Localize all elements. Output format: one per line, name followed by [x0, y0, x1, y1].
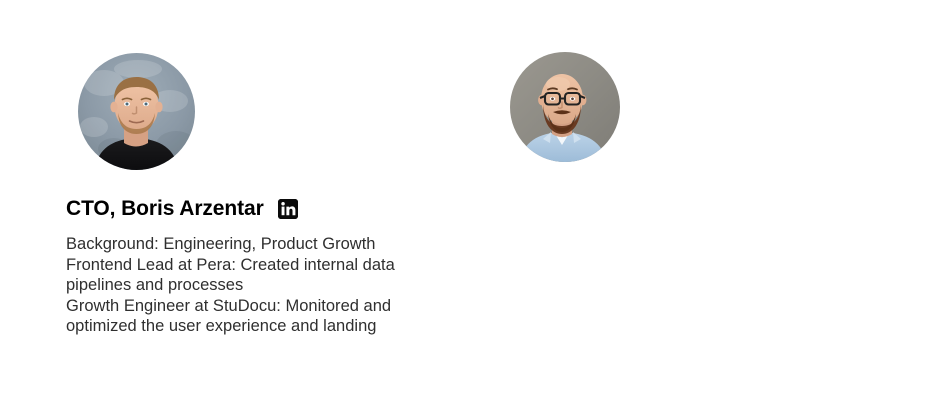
linkedin-icon[interactable]: [278, 199, 298, 219]
avatar-photo: [510, 52, 620, 162]
member-name: CTO, Boris Arzentar: [66, 196, 264, 222]
team-member-card: CTO, Boris Arzentar Background: Engineer…: [0, 0, 474, 412]
team-members-grid: CTO, Boris Arzentar Background: Engineer…: [0, 0, 948, 412]
member-bio: Background: Engineering, Product Growth …: [66, 234, 411, 337]
avatar-wrapper: [510, 52, 620, 162]
avatar: [78, 53, 195, 170]
avatar-wrapper: [78, 53, 195, 170]
bio-line: Growth Engineer at StuDocu: Monitored an…: [66, 296, 411, 337]
linkedin-glyph: [278, 199, 298, 219]
bio-line: Background: Engineering, Product Growth: [66, 234, 411, 255]
team-member-card: CEO, Vasilije Markovic Background: Busin…: [474, 0, 948, 412]
avatar: [510, 52, 620, 162]
bio-line: Frontend Lead at Pera: Created internal …: [66, 255, 411, 296]
avatar-photo: [78, 53, 195, 170]
member-name-row: CTO, Boris Arzentar: [66, 196, 298, 222]
